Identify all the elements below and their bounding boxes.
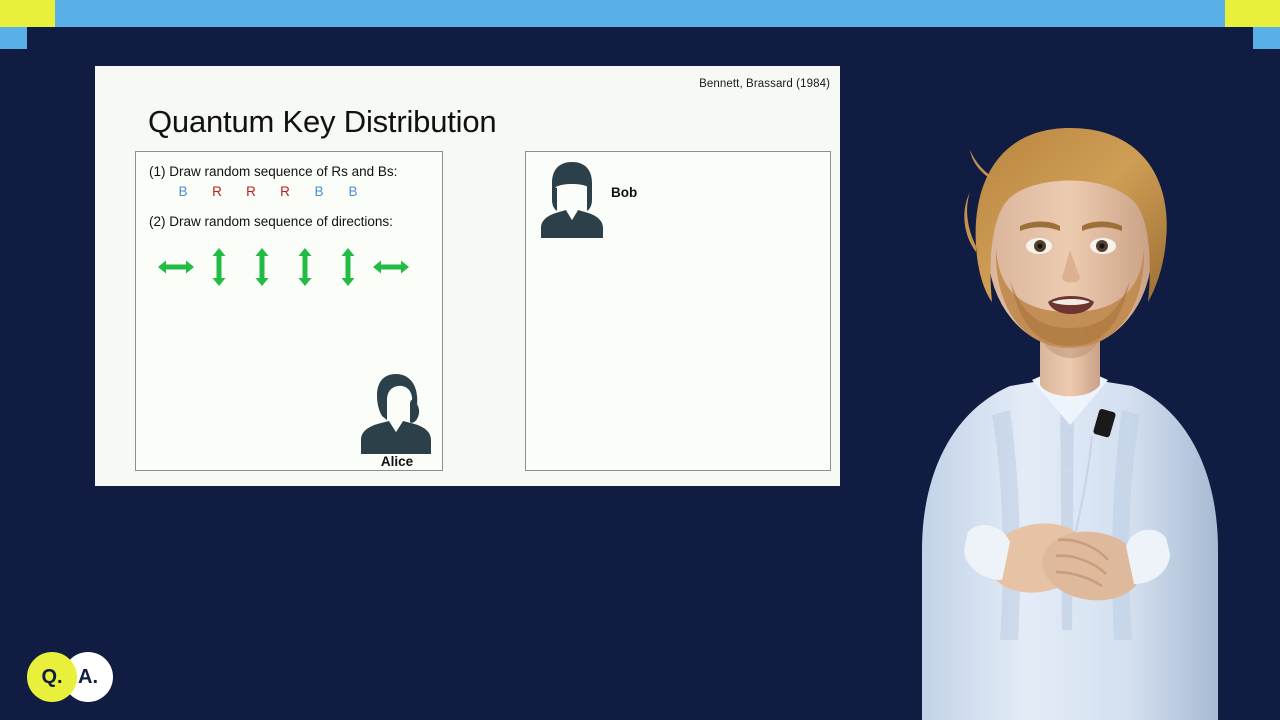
- logo-q-label: Q.: [41, 666, 62, 689]
- bob-panel: Bob: [525, 151, 831, 471]
- sequence-letter: R: [234, 184, 268, 199]
- sequence-letter: B: [302, 184, 336, 199]
- logo-a-label: A.: [78, 666, 98, 689]
- top-left-blue-square: [0, 27, 27, 49]
- random-bit-sequence: B R R R B B: [166, 184, 370, 199]
- top-right-yellow-block: [1225, 0, 1280, 27]
- vertical-arrow-icon: [326, 247, 369, 287]
- male-avatar-icon: [541, 160, 603, 238]
- presentation-slide: Bennett, Brassard (1984) Quantum Key Dis…: [95, 66, 840, 486]
- top-right-blue-square: [1253, 27, 1280, 49]
- vertical-arrow-icon: [197, 247, 240, 287]
- slide-title: Quantum Key Distribution: [148, 104, 496, 140]
- video-frame: Bennett, Brassard (1984) Quantum Key Dis…: [0, 0, 1280, 720]
- alice-panel: (1) Draw random sequence of Rs and Bs: B…: [135, 151, 443, 471]
- sequence-letter: R: [200, 184, 234, 199]
- channel-logo: A. Q.: [27, 652, 117, 702]
- presenter-video: [860, 80, 1280, 720]
- horizontal-arrow-icon: [154, 247, 197, 287]
- sequence-letter: B: [166, 184, 200, 199]
- sequence-letter: R: [268, 184, 302, 199]
- top-left-yellow-block: [0, 0, 55, 27]
- alice-label: Alice: [358, 454, 436, 469]
- logo-q-circle: Q.: [27, 652, 77, 702]
- direction-arrow-sequence: [154, 247, 412, 287]
- step-two-label: (2) Draw random sequence of directions:: [149, 214, 393, 229]
- sequence-letter: B: [336, 184, 370, 199]
- citation-text: Bennett, Brassard (1984): [699, 78, 830, 90]
- bob-label: Bob: [611, 185, 637, 200]
- female-avatar-icon: [361, 370, 431, 454]
- horizontal-arrow-icon: [369, 247, 412, 287]
- vertical-arrow-icon: [283, 247, 326, 287]
- vertical-arrow-icon: [240, 247, 283, 287]
- step-one-label: (1) Draw random sequence of Rs and Bs:: [149, 164, 397, 179]
- top-blue-band: [0, 0, 1280, 27]
